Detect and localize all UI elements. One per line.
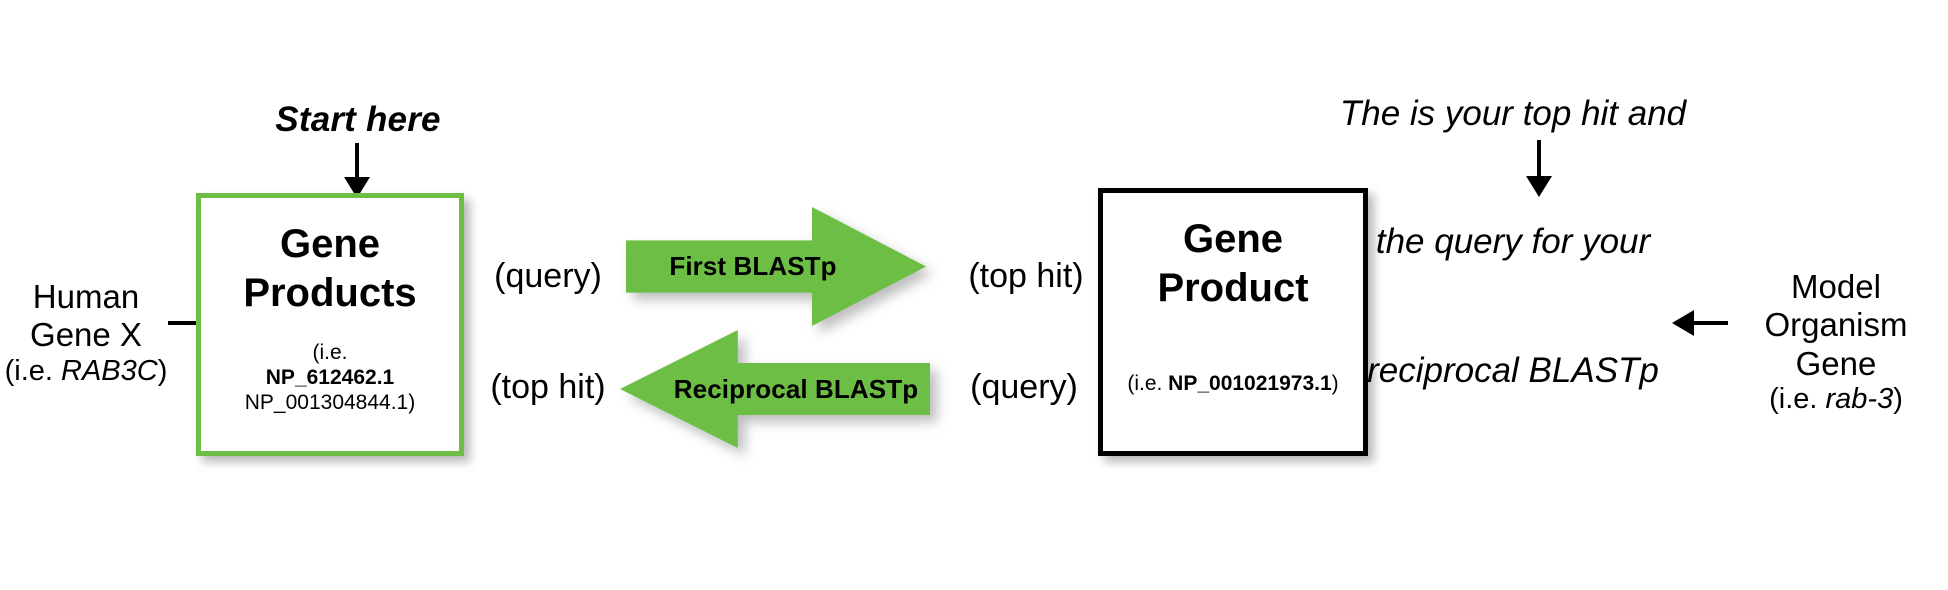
ie-suffix: ): [158, 355, 168, 387]
right-box-accession-value: NP_001021973.1: [1168, 372, 1331, 395]
model-organism-gene-label: Model Organism Gene (i.e. rab-3): [1724, 268, 1948, 416]
top-note-line-1: The is your top hit and: [1283, 93, 1743, 136]
start-here-arrow-icon: [344, 143, 370, 199]
arrow-shaft: [355, 143, 359, 179]
model-organism-gene-product-box[interactable]: Gene Product (i.e. NP_001021973.1): [1098, 188, 1368, 456]
query-label-right: (query): [950, 368, 1098, 407]
human-gene-example: (i.e. RAB3C): [0, 355, 172, 389]
right-box-title-line-2: Product: [1103, 264, 1363, 313]
ie-suffix: ): [1332, 372, 1339, 395]
model-organism-gene-symbol: rab-3: [1826, 383, 1894, 415]
right-box-title: Gene Product: [1103, 215, 1363, 313]
ie-prefix: (i.e.: [1769, 383, 1825, 415]
arrow-head: [1672, 310, 1694, 336]
ie-suffix: ): [1893, 383, 1903, 415]
human-gene-label: Human Gene X (i.e. RAB3C): [0, 278, 172, 388]
ie-prefix: (i.e.: [5, 355, 61, 387]
model-organism-line-1: Model: [1724, 268, 1948, 306]
human-gene-products-box[interactable]: Gene Products (i.e. NP_612462.1 NP_00130…: [196, 193, 464, 456]
right-box-title-line-1: Gene: [1103, 215, 1363, 264]
human-gene-line-1: Human: [0, 278, 172, 316]
left-box-title-line-2: Products: [201, 269, 459, 318]
human-gene-symbol: RAB3C: [61, 355, 158, 387]
diagram-canvas: Start here The is your top hit and the q…: [0, 0, 1948, 590]
left-box-ie: (i.e.: [201, 340, 459, 365]
top-hit-label-left: (top hit): [472, 368, 624, 407]
human-gene-line-2: Gene X: [0, 316, 172, 354]
first-blastp-label: First BLASTp: [626, 251, 926, 282]
query-label-left: (query): [478, 257, 618, 296]
arrow-head: [1526, 176, 1552, 197]
left-box-title: Gene Products: [201, 220, 459, 318]
left-box-accessions: (i.e. NP_612462.1 NP_001304844.1): [201, 340, 459, 416]
start-here-label: Start here: [248, 100, 468, 140]
top-note-arrow-icon: [1526, 140, 1552, 198]
left-box-accession-secondary: NP_001304844.1): [201, 390, 459, 415]
right-box-accession-line: (i.e. NP_001021973.1): [1103, 371, 1363, 396]
right-box-accession: (i.e. NP_001021973.1): [1103, 371, 1363, 396]
model-organism-example: (i.e. rab-3): [1724, 383, 1948, 417]
first-blastp-arrow[interactable]: First BLASTp: [626, 207, 926, 326]
reciprocal-blastp-label: Reciprocal BLASTp: [620, 374, 930, 405]
arrow-shaft: [1537, 140, 1541, 178]
model-organism-line-3: Gene: [1724, 345, 1948, 383]
left-box-accession-primary: NP_612462.1: [201, 365, 459, 390]
model-organism-arrow-icon: [1672, 310, 1728, 336]
model-organism-line-2: Organism: [1724, 306, 1948, 344]
ie-prefix: (i.e.: [1127, 372, 1168, 395]
arrow-shaft: [1692, 321, 1728, 325]
reciprocal-blastp-arrow[interactable]: Reciprocal BLASTp: [620, 330, 930, 448]
top-hit-label-right: (top hit): [952, 257, 1100, 296]
left-box-title-line-1: Gene: [201, 220, 459, 269]
